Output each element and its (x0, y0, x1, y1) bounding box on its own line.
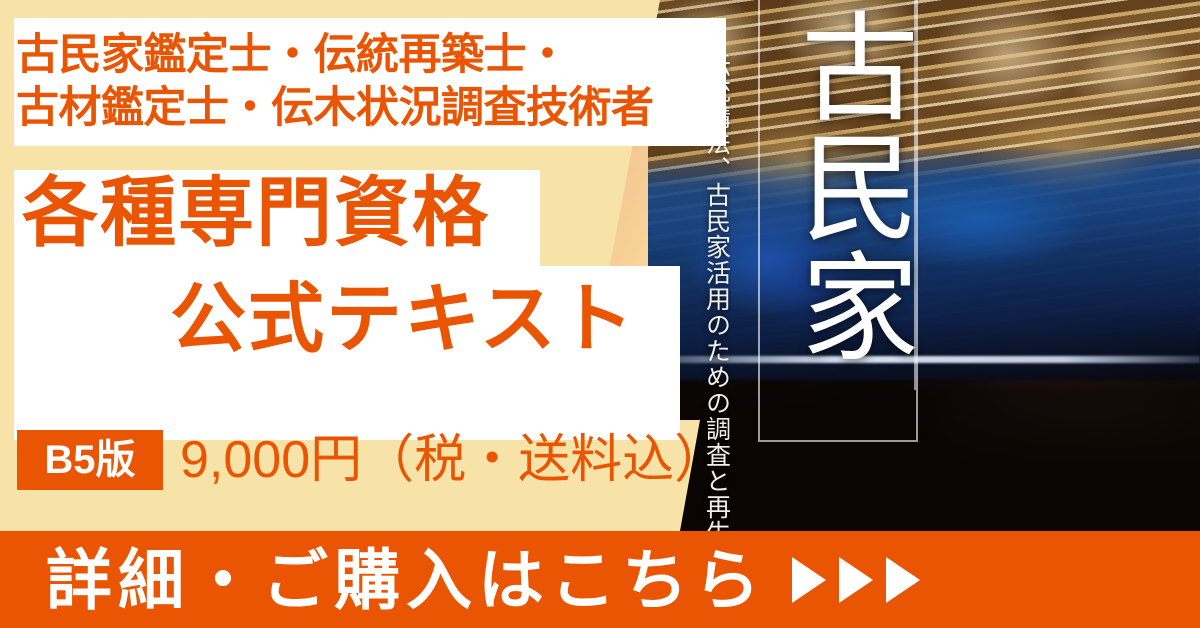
headline-line-2: 公式テキスト (170, 282, 636, 358)
triangle-right-icon (886, 557, 920, 603)
book-cover-title: 古民家 (780, 6, 915, 366)
cover-highlight-line (648, 356, 1200, 363)
certifications-text: 古民家鑑定士・伝統再築士・ 古材鑑定士・伝木状況調査技術者 (16, 22, 722, 142)
triangle-right-icon (839, 557, 873, 603)
certification-line-1: 古民家鑑定士・伝統再築士・ (16, 29, 722, 82)
headline-line-1: 各種専門資格 (22, 176, 490, 252)
blue-roof-tile-texture (648, 150, 1200, 380)
cta-arrow-group (792, 557, 920, 603)
cta-label: 詳細・ご購入はこちら (46, 547, 766, 613)
price-text: 9,000円（税・送料込） (180, 431, 726, 489)
book-cover-image (648, 0, 1200, 531)
promotional-banner: 古民家 伝統構法、古民家活用のための調査と再生の 古民家鑑定士・伝統再築士・ 古… (0, 0, 1200, 628)
certification-line-2: 古材鑑定士・伝木状況調査技術者 (16, 82, 722, 135)
triangle-right-icon (792, 557, 826, 603)
format-badge: B5版 (17, 430, 163, 490)
cta-bar[interactable]: 詳細・ご購入はこちら (0, 531, 1200, 628)
